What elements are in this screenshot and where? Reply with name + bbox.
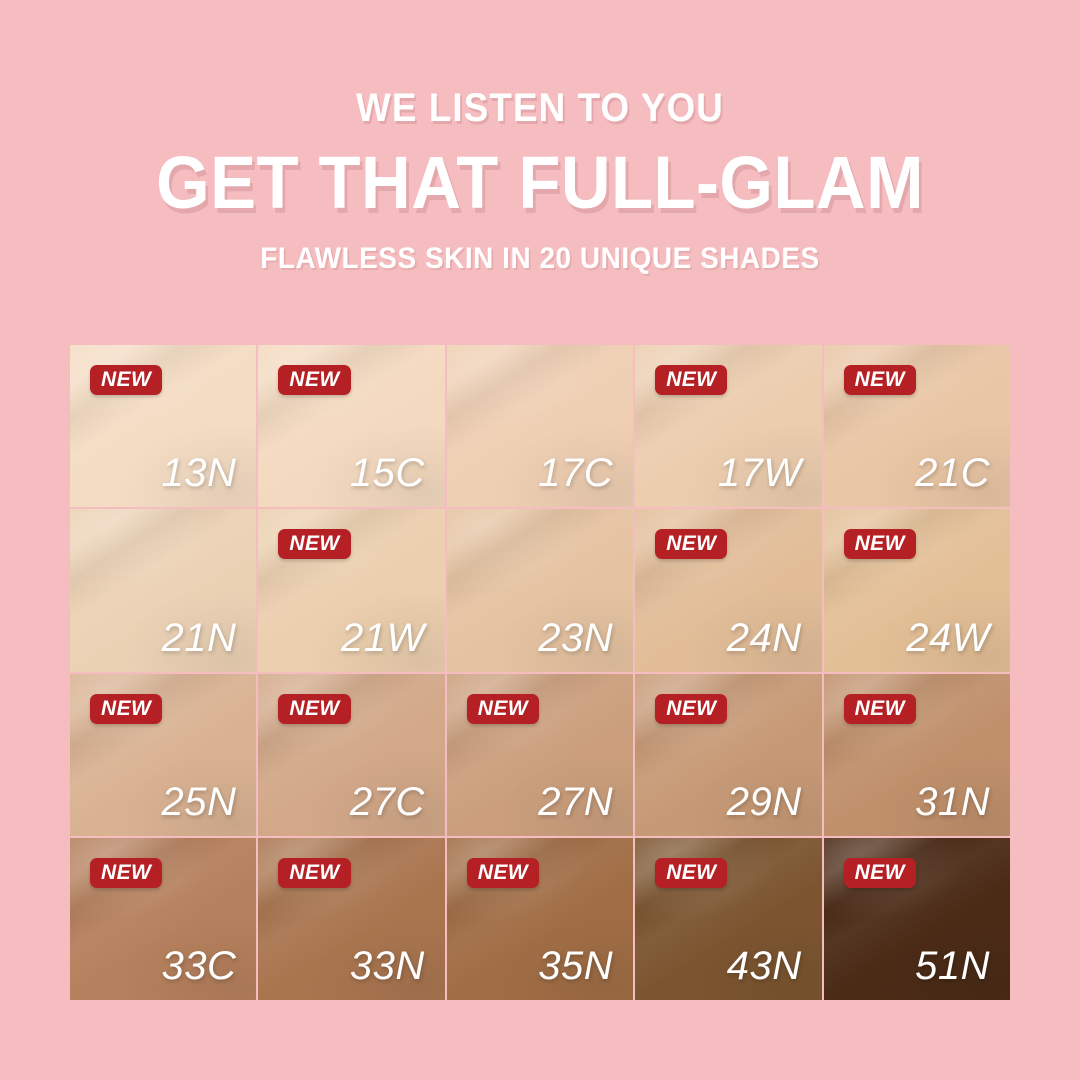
shade-code-label: 33N	[350, 946, 425, 986]
shade-code-label: 27N	[538, 782, 613, 822]
new-badge: NEW	[278, 694, 350, 724]
shade-swatch[interactable]: NEW21N	[70, 509, 256, 671]
shade-code-label: 21W	[341, 618, 425, 658]
shade-code-label: 24N	[727, 618, 802, 658]
new-badge: NEW	[278, 529, 350, 559]
new-badge: NEW	[90, 365, 162, 395]
shade-swatch[interactable]: NEW24W	[824, 509, 1010, 671]
shade-code-label: 15C	[350, 453, 425, 493]
shade-code-label: 23N	[538, 618, 613, 658]
subtitle-text: FLAWLESS SKIN IN 20 UNIQUE SHADES	[38, 244, 1042, 274]
new-badge: NEW	[844, 858, 916, 888]
shade-code-label: 17W	[718, 453, 802, 493]
shade-swatch[interactable]: NEW15C	[258, 345, 444, 507]
shade-swatch[interactable]: NEW31N	[824, 674, 1010, 836]
heading-block: WE LISTEN TO YOU GET THAT FULL-GLAM FLAW…	[0, 0, 1080, 274]
shade-grid: NEW13NNEW15CNEW17CNEW17WNEW21CNEW21NNEW2…	[70, 345, 1010, 1000]
new-badge: NEW	[655, 858, 727, 888]
shade-code-label: 21C	[915, 453, 990, 493]
shade-swatch[interactable]: NEW21W	[258, 509, 444, 671]
shade-code-label: 25N	[162, 782, 237, 822]
shade-swatch[interactable]: NEW51N	[824, 838, 1010, 1000]
shade-swatch[interactable]: NEW25N	[70, 674, 256, 836]
shade-swatch[interactable]: NEW35N	[447, 838, 633, 1000]
new-badge: NEW	[467, 858, 539, 888]
shade-code-label: 43N	[727, 946, 802, 986]
shade-code-label: 13N	[162, 453, 237, 493]
shade-swatch[interactable]: NEW29N	[635, 674, 821, 836]
new-badge: NEW	[844, 365, 916, 395]
shade-code-label: 21N	[162, 618, 237, 658]
shade-code-label: 17C	[538, 453, 613, 493]
new-badge: NEW	[90, 858, 162, 888]
shade-swatch[interactable]: NEW27C	[258, 674, 444, 836]
shade-swatch[interactable]: NEW21C	[824, 345, 1010, 507]
new-badge: NEW	[844, 694, 916, 724]
shade-code-label: 35N	[538, 946, 613, 986]
new-badge: NEW	[844, 529, 916, 559]
new-badge: NEW	[278, 858, 350, 888]
new-badge: NEW	[655, 365, 727, 395]
shade-code-label: 29N	[727, 782, 802, 822]
shade-code-label: 31N	[915, 782, 990, 822]
shade-swatch[interactable]: NEW43N	[635, 838, 821, 1000]
new-badge: NEW	[655, 694, 727, 724]
shade-swatch[interactable]: NEW24N	[635, 509, 821, 671]
shade-code-label: 24W	[906, 618, 990, 658]
eyebrow-text: WE LISTEN TO YOU	[43, 88, 1037, 128]
new-badge: NEW	[278, 365, 350, 395]
new-badge: NEW	[90, 694, 162, 724]
shade-code-label: 27C	[350, 782, 425, 822]
shade-swatch[interactable]: NEW27N	[447, 674, 633, 836]
shade-code-label: 33C	[162, 946, 237, 986]
shade-swatch[interactable]: NEW33N	[258, 838, 444, 1000]
promo-page: WE LISTEN TO YOU GET THAT FULL-GLAM FLAW…	[0, 0, 1080, 1080]
shade-swatch[interactable]: NEW33C	[70, 838, 256, 1000]
shade-swatch[interactable]: NEW17C	[447, 345, 633, 507]
new-badge: NEW	[655, 529, 727, 559]
page-title: GET THAT FULL-GLAM	[38, 146, 1042, 220]
shade-swatch[interactable]: NEW13N	[70, 345, 256, 507]
shade-swatch[interactable]: NEW17W	[635, 345, 821, 507]
new-badge: NEW	[467, 694, 539, 724]
shade-swatch[interactable]: NEW23N	[447, 509, 633, 671]
shade-code-label: 51N	[915, 946, 990, 986]
